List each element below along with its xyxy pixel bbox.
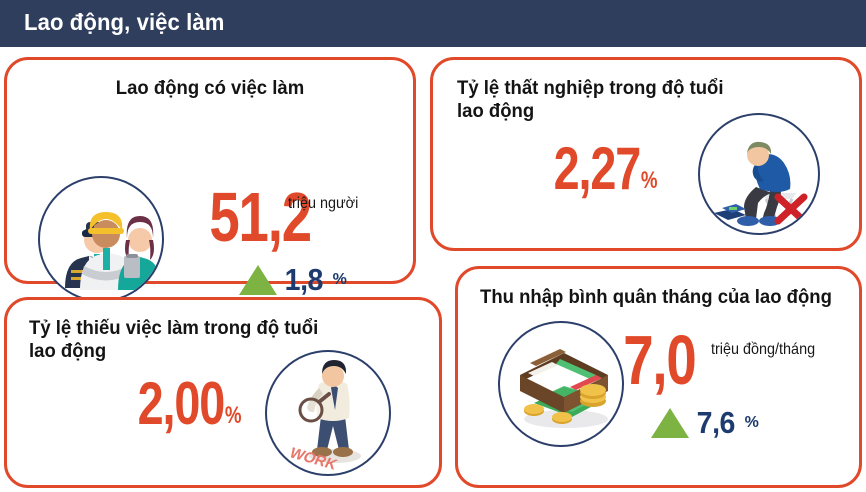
value-underemployed-number: 2,00 xyxy=(138,370,224,437)
value-unemployed-number: 2,27 xyxy=(554,135,640,202)
delta-employed: 1,8 % xyxy=(239,262,347,298)
delta-unit-employed: % xyxy=(333,271,347,289)
value-income-number: 7,0 xyxy=(623,321,695,399)
delta-income: 7,6 % xyxy=(651,405,759,441)
card-title-underemployed: Tỷ lệ thiếu việc làm trong độ tuổi lao đ… xyxy=(29,317,318,363)
delta-value-employed: 1,8 xyxy=(285,262,323,298)
unit-employed: triệu người xyxy=(288,195,358,213)
triangle-up-icon xyxy=(239,265,277,295)
percent-sign-unemployed: % xyxy=(641,167,658,194)
job-search-icon: WORK xyxy=(265,350,391,476)
unit-income: triệu đồng/tháng xyxy=(711,341,815,359)
card-title-income: Thu nhập bình quân tháng của lao động xyxy=(480,286,832,309)
delta-unit-income: % xyxy=(745,414,759,432)
unemployed-person-icon xyxy=(698,113,820,235)
triangle-up-icon xyxy=(651,408,689,438)
value-employed-number: 51,2 xyxy=(209,178,311,256)
value-underemployed: 2,00% xyxy=(138,374,242,434)
value-unemployed: 2,27% xyxy=(554,139,658,199)
stat-card-employed: Lao động có việc làm xyxy=(4,57,416,284)
stat-card-income: Thu nhập bình quân tháng của lao động xyxy=(455,266,862,488)
percent-sign-underemployed: % xyxy=(225,402,242,429)
wallet-money-icon xyxy=(498,321,624,447)
card-title-unemployed: Tỷ lệ thất nghiệp trong độ tuổi lao động xyxy=(457,77,724,123)
stat-card-unemployed: Tỷ lệ thất nghiệp trong độ tuổi lao động… xyxy=(430,57,862,251)
value-employed: 51,2 xyxy=(209,182,311,252)
page-title: Lao động, việc làm xyxy=(24,9,225,36)
delta-value-income: 7,6 xyxy=(697,405,735,441)
stat-card-underemployed: Tỷ lệ thiếu việc làm trong độ tuổi lao đ… xyxy=(4,297,442,488)
card-title-employed: Lao động có việc làm xyxy=(17,77,403,100)
value-income: 7,0 xyxy=(623,325,695,395)
three-workers-icon xyxy=(38,176,164,302)
header-bar: Lao động, việc làm xyxy=(0,0,866,47)
